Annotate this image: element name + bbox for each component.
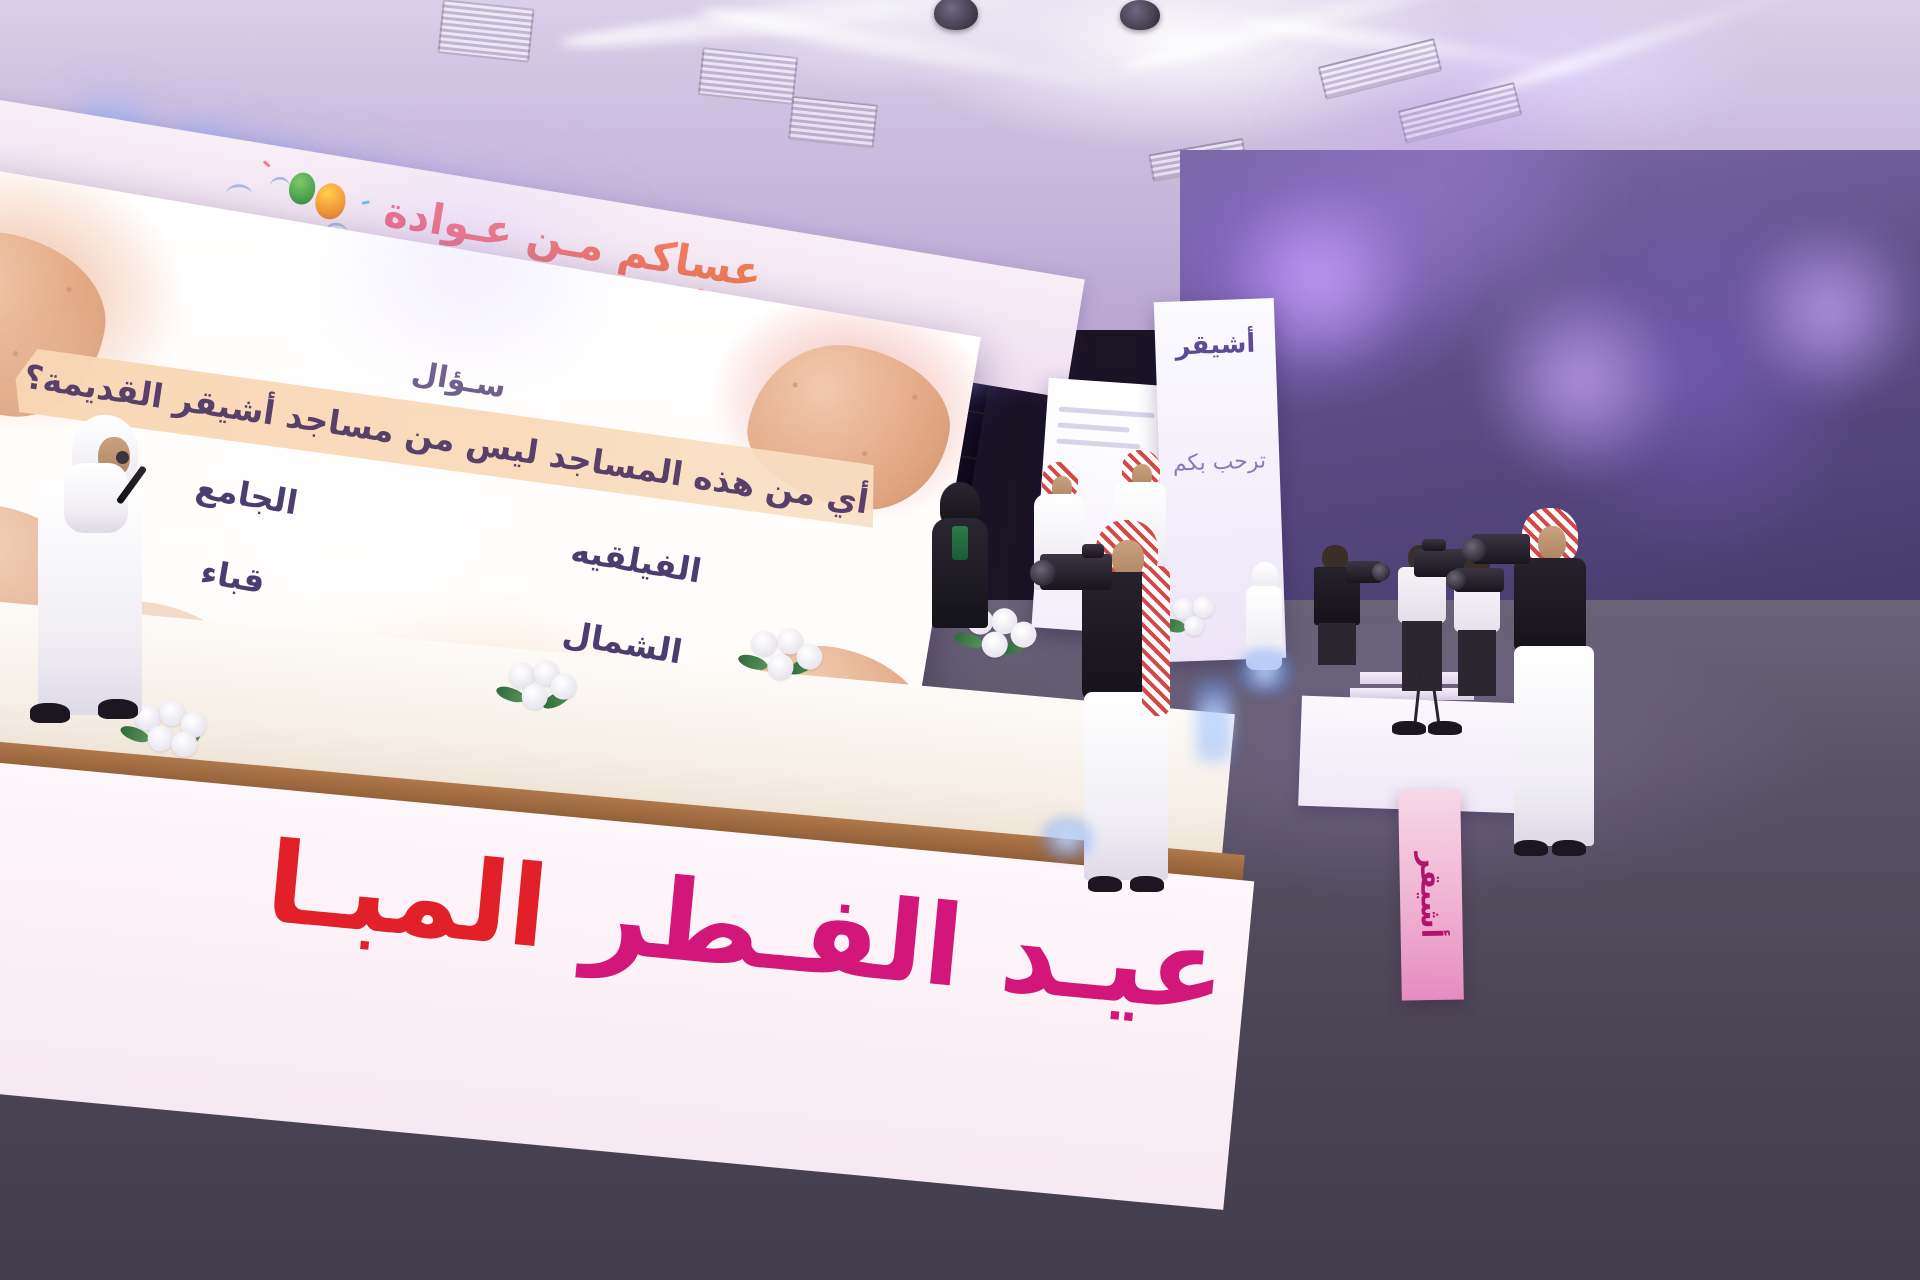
presenter-on-stage (24, 415, 154, 725)
flower-bloom (981, 631, 1009, 659)
shoe (1130, 876, 1164, 892)
attendee-right-thobe (1494, 508, 1604, 868)
flower-bouquet-icon (490, 657, 590, 730)
trousers (1458, 630, 1496, 696)
bird-icon (226, 184, 252, 195)
trousers (1402, 621, 1442, 691)
standee-subtitle: ترحب بكم (1159, 448, 1280, 477)
ceiling-vent (788, 96, 878, 149)
floor-light-strip (1196, 660, 1232, 780)
microphone-head (116, 451, 129, 464)
flower-bloom (550, 673, 578, 701)
ceiling-speaker (1120, 0, 1160, 30)
flower-bouquet-icon (734, 625, 834, 698)
wall-light-glow (1740, 210, 1920, 410)
video-camera-icon (1342, 555, 1390, 589)
camera-viewfinder (1422, 539, 1446, 551)
flower-bloom (147, 725, 175, 753)
monitor-text-line (1056, 438, 1140, 449)
floor-light-blue (1232, 648, 1298, 694)
flower-bloom (750, 630, 778, 658)
ceiling-vent (437, 0, 534, 63)
thobe-robe (1084, 692, 1168, 880)
vertical-side-banner: أشيقر (1398, 789, 1464, 1000)
monitor-text-line (1059, 407, 1155, 419)
balloon-icon (287, 171, 318, 207)
sash (952, 526, 968, 560)
thobe-robe (1514, 646, 1594, 846)
skirt-text-mubarak: المبـا (261, 818, 554, 974)
ceiling-vent (1398, 82, 1523, 144)
video-camera-icon (1034, 544, 1130, 604)
camera-viewfinder (1082, 544, 1104, 558)
wall-light-glow (1480, 270, 1680, 490)
confetti-icon (263, 160, 271, 167)
flower-bloom (170, 730, 198, 758)
video-camera-icon (1462, 526, 1546, 576)
flower-bloom (1010, 621, 1038, 649)
floor-light-blue (1036, 816, 1098, 860)
flower-bloom (767, 653, 795, 681)
headdress-tail (1142, 566, 1170, 716)
ceiling-vent (698, 47, 798, 105)
shoe (1552, 840, 1586, 856)
shoe (1088, 876, 1122, 892)
ceiling-speaker (934, 0, 978, 30)
ceiling-light-streak (1478, 0, 1806, 102)
balloon-icon (313, 181, 348, 221)
shoe (1514, 840, 1548, 856)
crew-camera-operator-1 (1306, 545, 1376, 665)
answer-option-1[interactable]: الفيلقيه (438, 508, 834, 612)
shoe (30, 703, 70, 723)
camera-lens (1462, 538, 1486, 562)
vertical-side-banner-text: أشيقر (1398, 789, 1464, 1000)
flower-bloom (795, 643, 823, 671)
trousers (1318, 623, 1356, 665)
monitor-text-line (1057, 423, 1129, 433)
standee-title: أشيقر (1155, 324, 1276, 367)
bird-icon (270, 177, 290, 187)
stage-participant-abaya (930, 482, 992, 630)
shoe (98, 699, 138, 719)
shoe (1392, 721, 1426, 735)
event-hall-scene: عساكم مـن عـوادة سـؤال أي من هذه المساجد… (0, 0, 1920, 1280)
confetti-icon (362, 200, 370, 204)
camera-lens (1030, 560, 1056, 586)
